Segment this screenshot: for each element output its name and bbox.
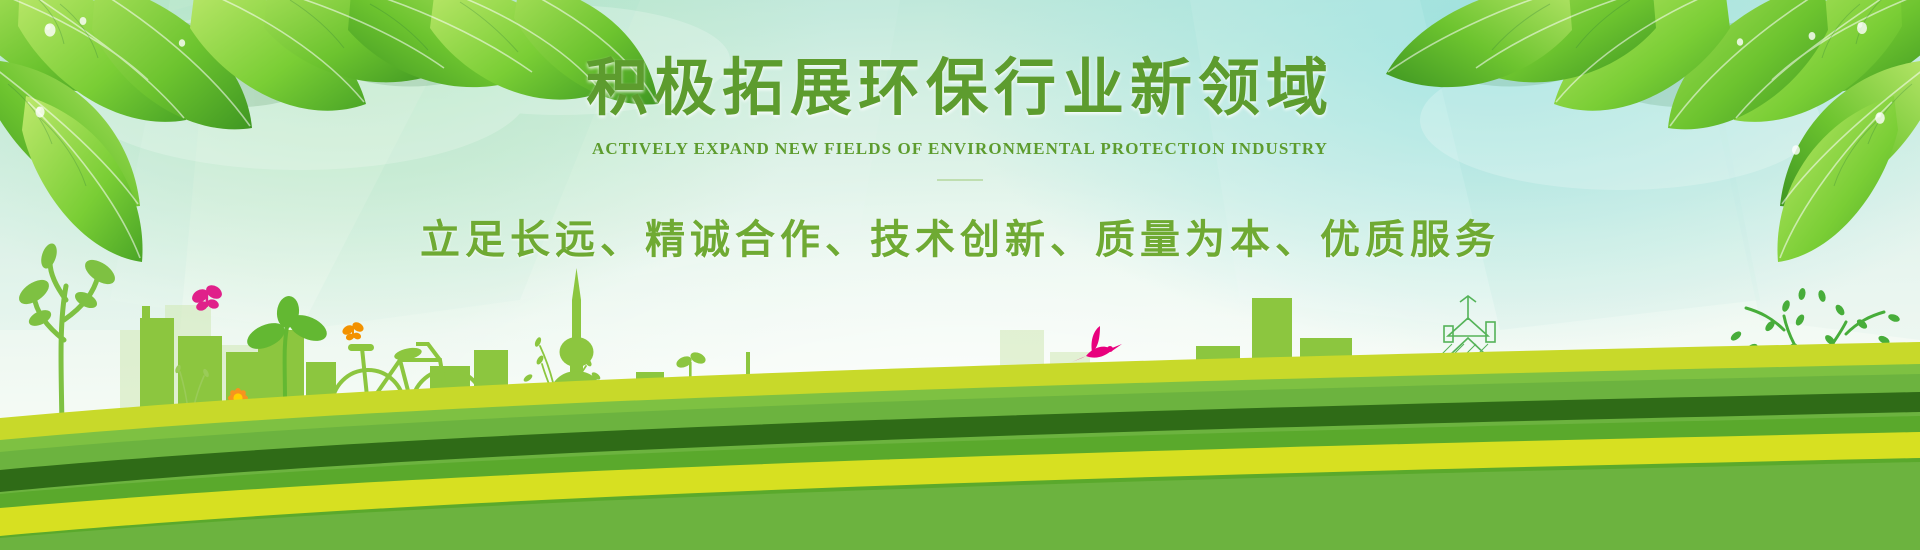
banner-text-block: 积极拓展环保行业新领域 ACTIVELY EXPAND NEW FIELDS O…	[0, 52, 1920, 265]
eco-banner: 积极拓展环保行业新领域 ACTIVELY EXPAND NEW FIELDS O…	[0, 0, 1920, 550]
page-title: 积极拓展环保行业新领域	[0, 52, 1920, 123]
flower-icon	[714, 403, 729, 450]
title-divider	[937, 179, 983, 181]
flower-icon	[228, 388, 249, 450]
bud-icon	[675, 350, 708, 380]
banner-subtitle: ACTIVELY EXPAND NEW FIELDS OF ENVIRONMEN…	[0, 139, 1920, 159]
ladybug-icon	[821, 402, 837, 416]
butterfly-icon	[190, 282, 225, 312]
butterfly-icon	[341, 320, 366, 341]
flower-icon	[1485, 433, 1727, 445]
hummingbird-icon	[1072, 326, 1122, 362]
sunflower-icon	[1621, 370, 1686, 450]
banner-slogan: 立足长远、精诚合作、技术创新、质量为本、优质服务	[0, 207, 1920, 265]
